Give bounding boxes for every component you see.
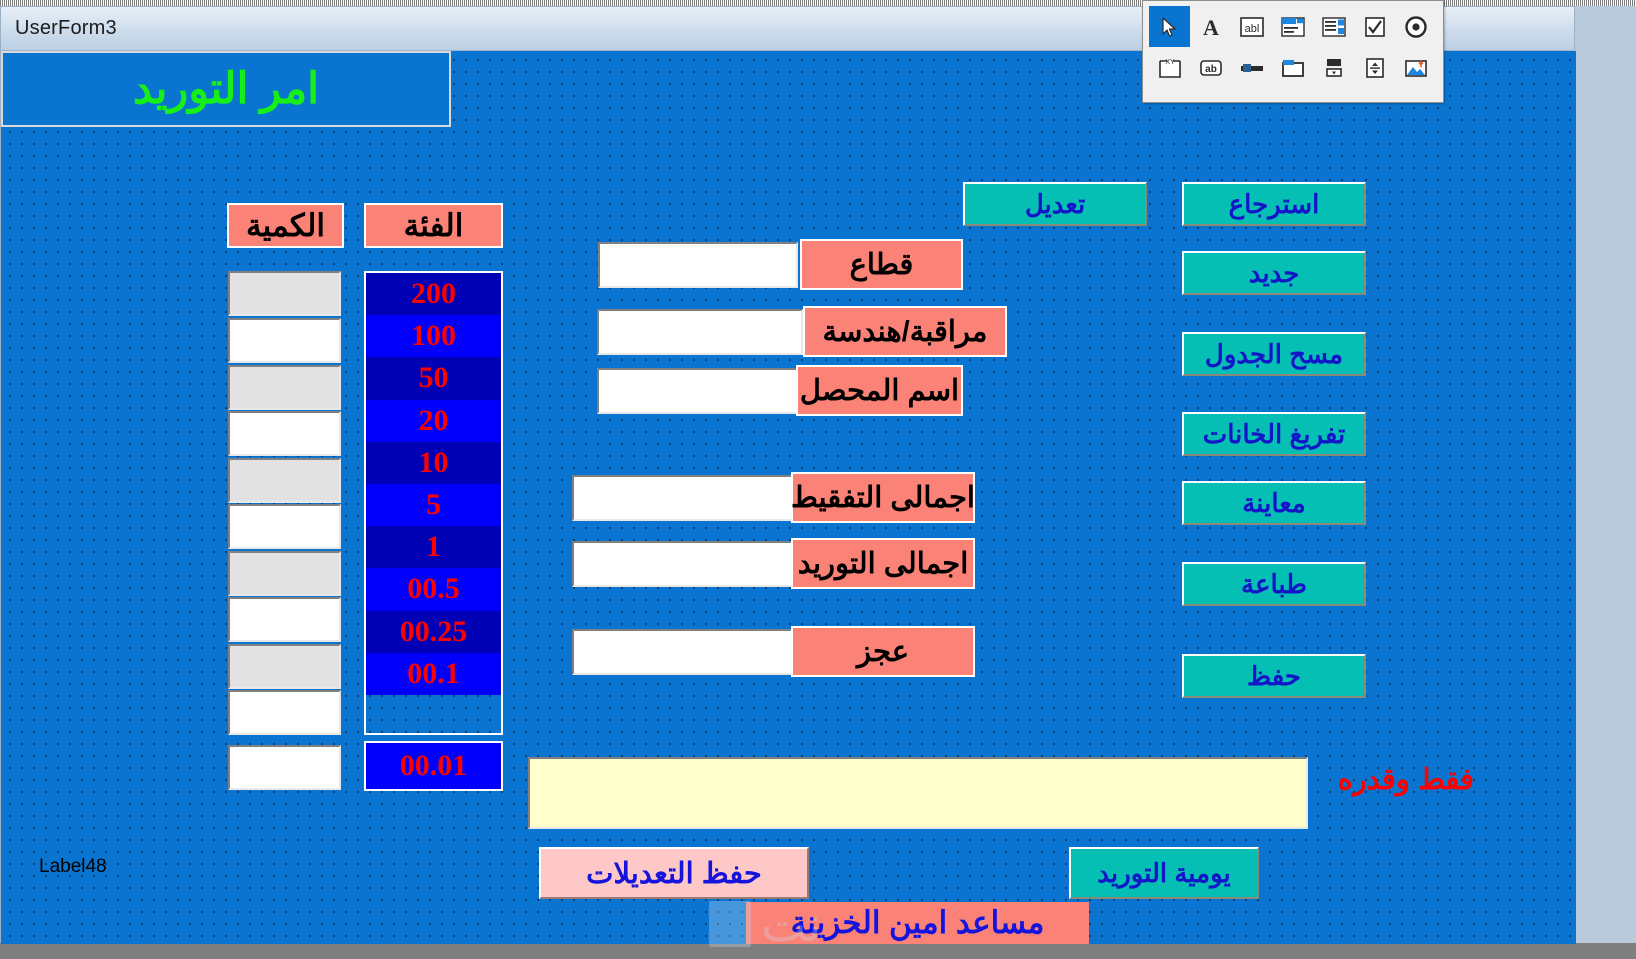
category-cell-4: 10: [366, 442, 501, 484]
checkbox-icon[interactable]: [1354, 6, 1395, 47]
commandbutton-icon[interactable]: [1313, 47, 1354, 88]
field-input-1[interactable]: [597, 309, 803, 355]
category-cell-9: 00.1: [366, 653, 501, 695]
field-label-4: اجمالى التوريد: [791, 538, 975, 589]
userform-window: UserForm3 امر التوريد الكمية الفئة: [0, 6, 1575, 943]
category-cell-7: 00.5: [366, 568, 501, 610]
field-input-5[interactable]: [572, 629, 802, 675]
preview-button[interactable]: معاينة: [1182, 481, 1366, 525]
clear-table-button[interactable]: مسح الجدول: [1182, 332, 1366, 376]
window-title: UserForm3: [15, 17, 117, 40]
image-icon[interactable]: [1395, 47, 1436, 88]
field-label-0: قطاع: [800, 239, 963, 290]
scrollbar-icon[interactable]: [1231, 47, 1272, 88]
category-cell-5: 5: [366, 484, 501, 526]
frame-icon[interactable]: [1272, 47, 1313, 88]
category-cell-6: 1: [366, 526, 501, 568]
spinbutton-icon[interactable]: [1354, 47, 1395, 88]
quantity-input-0[interactable]: [228, 271, 341, 316]
field-label-2: اسم المحصل: [796, 365, 963, 416]
quantity-input-1[interactable]: [228, 318, 341, 363]
amount-only-note: فقط وقدره: [1314, 757, 1474, 801]
new-button[interactable]: جديد: [1182, 251, 1366, 295]
form-banner-title: امر التوريد: [1, 51, 451, 127]
quantity-input-6[interactable]: [228, 551, 341, 596]
combobox-icon[interactable]: [1272, 6, 1313, 47]
optionbutton-icon[interactable]: [1395, 6, 1436, 47]
svg-text:abl: abl: [1244, 23, 1259, 35]
toolbox-grid: A abl: [1149, 6, 1436, 88]
svg-text:ab: ab: [1205, 64, 1217, 75]
category-cell-8: 00.25: [366, 611, 501, 653]
save-edits-button[interactable]: حفظ التعديلات: [539, 847, 809, 899]
print-button[interactable]: طباعة: [1182, 562, 1366, 606]
quantity-input-2[interactable]: [228, 365, 341, 410]
category-cell-1: 100: [366, 315, 501, 357]
quantity-input-8[interactable]: [228, 644, 341, 689]
category-cell-10: 00.01: [364, 741, 503, 791]
quantity-input-9[interactable]: [228, 690, 341, 735]
empty-cells-button[interactable]: تفريغ الخانات: [1182, 412, 1366, 456]
field-label-1: مراقبة/هندسة: [803, 306, 1007, 357]
footer-role-bar: مساعد امين الخزينة: [746, 902, 1089, 944]
edit-button[interactable]: تعديل: [963, 182, 1147, 226]
listbox-icon[interactable]: [1313, 6, 1354, 47]
svg-text:XY: XY: [1165, 59, 1175, 66]
header-category: الفئة: [364, 203, 503, 248]
textbox-icon[interactable]: abl: [1231, 6, 1272, 47]
notes-input[interactable]: [528, 757, 1308, 829]
retrieve-button[interactable]: استرجاع: [1182, 182, 1366, 226]
togglebutton-icon[interactable]: ab: [1190, 47, 1231, 88]
screen: UserForm3 امر التوريد الكمية الفئة: [0, 0, 1636, 943]
field-input-0[interactable]: [598, 242, 798, 288]
label-icon[interactable]: A: [1190, 6, 1231, 47]
label48: Label48: [39, 856, 107, 878]
category-column: 200 100 50 20 10 5 1 00.5 00.25 00.1: [364, 271, 503, 735]
multipage-icon[interactable]: XY: [1149, 47, 1190, 88]
toolbox-palette[interactable]: A abl: [1142, 0, 1444, 103]
field-input-3[interactable]: [572, 475, 802, 521]
quantity-input-3[interactable]: [228, 411, 341, 456]
field-input-4[interactable]: [572, 541, 802, 587]
field-input-2[interactable]: [597, 368, 799, 414]
quantity-input-4[interactable]: [228, 458, 341, 503]
supply-journal-button[interactable]: يومية التوريد: [1069, 847, 1259, 899]
quantity-input-10[interactable]: [228, 745, 341, 790]
userform-design-canvas[interactable]: امر التوريد الكمية الفئة 200: [1, 51, 1576, 944]
category-cell-2: 50: [366, 357, 501, 399]
svg-text:A: A: [1203, 15, 1219, 40]
field-label-5: عجز: [791, 626, 975, 677]
category-cell-0: 200: [366, 273, 501, 315]
select-objects-icon[interactable]: [1149, 6, 1190, 47]
field-label-3: اجمالى التفقيط: [791, 472, 975, 523]
quantity-input-5[interactable]: [228, 504, 341, 549]
save-button[interactable]: حفظ: [1182, 654, 1366, 698]
quantity-input-7[interactable]: [228, 597, 341, 642]
header-quantity: الكمية: [227, 203, 344, 248]
category-cell-3: 20: [366, 400, 501, 442]
